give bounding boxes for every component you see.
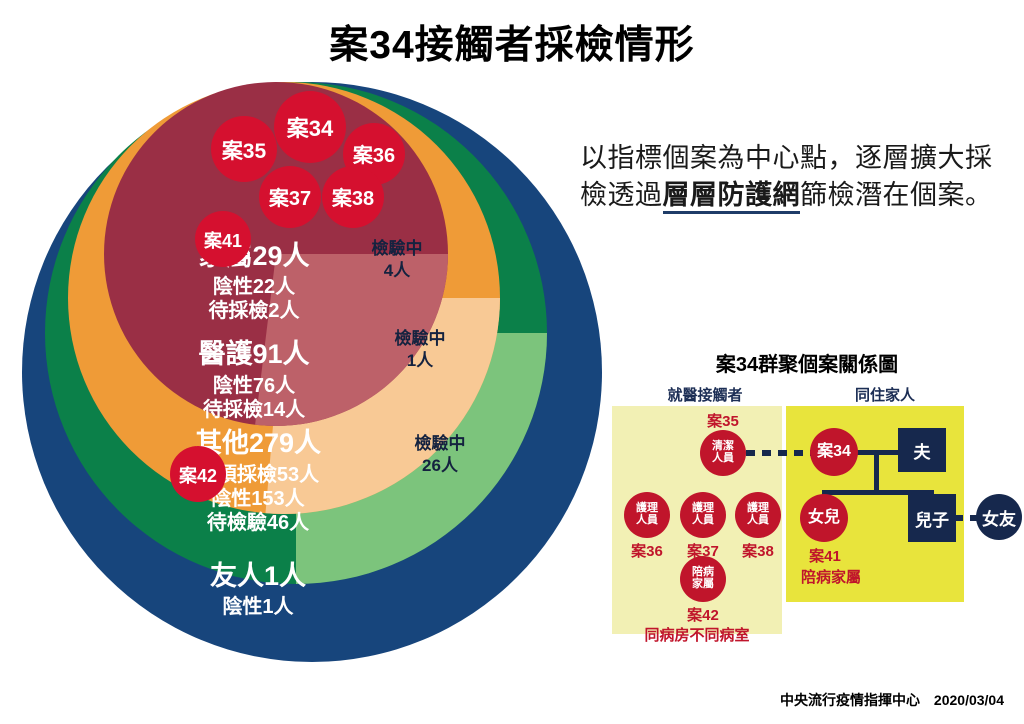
son-label: 兒子 bbox=[915, 506, 949, 531]
girlfriend-circle[interactable]: 女友 bbox=[976, 494, 1022, 540]
case38-role-circle[interactable]: 護理 人員 bbox=[735, 492, 781, 538]
case37-role-line2: 人員 bbox=[692, 515, 714, 527]
description-part-2: 篩檢潛在個案。 bbox=[800, 180, 993, 210]
case36-role-line2: 人員 bbox=[636, 515, 658, 527]
ring-friend-title: 友人1人 bbox=[210, 561, 306, 591]
column-header-household: 同住家人 bbox=[800, 384, 970, 405]
case-bubble-35[interactable]: 案35 bbox=[211, 116, 277, 182]
case34-circle[interactable]: 案34 bbox=[810, 428, 858, 476]
case38-label: 案38 bbox=[727, 540, 789, 561]
connector-case35-case34 bbox=[746, 450, 816, 456]
case42-label: 案42 bbox=[672, 604, 734, 625]
case-bubble-41-label: 案41 bbox=[203, 230, 242, 251]
column-header-clinic-contacts: 就醫接觸者 bbox=[620, 384, 790, 405]
case36-role-circle[interactable]: 護理 人員 bbox=[624, 492, 670, 538]
case35-role-line2: 人員 bbox=[712, 453, 734, 465]
footer-date: 2020/03/04 bbox=[934, 692, 1004, 708]
line-parent-vertical bbox=[874, 450, 879, 495]
case-bubble-38-label: 案38 bbox=[331, 186, 374, 210]
ring-other-pending-count: 26人 bbox=[422, 456, 459, 475]
daughter-circle[interactable]: 女兒 bbox=[800, 494, 848, 542]
daughter-label: 女兒 bbox=[808, 510, 840, 527]
case-bubble-37-label: 案37 bbox=[268, 186, 311, 210]
ring-medical-detail-1: 陰性76人 bbox=[213, 373, 296, 397]
case-bubble-36-label: 案36 bbox=[352, 143, 395, 167]
page-title: 案34接觸者採檢情形 bbox=[0, 14, 1024, 70]
description-highlight: 層層防護網 bbox=[663, 180, 801, 214]
husband-label: 夫 bbox=[914, 438, 931, 463]
case35-role-circle[interactable]: 清潔 人員 bbox=[700, 430, 746, 476]
ring-medical-pending-count: 1人 bbox=[407, 351, 434, 370]
ring-medical-pending-label: 檢驗中 bbox=[395, 328, 446, 348]
case-bubble-37[interactable]: 案37 bbox=[259, 166, 321, 228]
nested-circles-diagram: 家屬29人 陰性22人 待採檢2人 檢驗中 4人 醫護91人 陰性76人 待採檢… bbox=[8, 72, 616, 672]
case34-label: 案34 bbox=[817, 444, 851, 461]
case-bubble-34-label: 案34 bbox=[286, 116, 334, 141]
ring-other-detail-2: 陰性153人 bbox=[211, 486, 305, 510]
case41-label: 案41 bbox=[794, 545, 856, 566]
case42-note: 同病房不同病室 bbox=[612, 624, 782, 645]
girlfriend-label: 女友 bbox=[982, 505, 1016, 530]
ring-family-pending-count: 4人 bbox=[384, 261, 411, 280]
case-bubble-35-label: 案35 bbox=[221, 139, 267, 163]
case-bubble-42[interactable]: 案42 bbox=[170, 446, 226, 502]
case41-note: 陪病家屬 bbox=[786, 566, 876, 587]
ring-family-detail-1: 陰性22人 bbox=[213, 274, 296, 298]
case42-role-circle[interactable]: 陪病 家屬 bbox=[680, 556, 726, 602]
relationship-title: 案34群聚個案關係圖 bbox=[612, 348, 1002, 377]
footer: 中央流行疫情指揮中心 2020/03/04 bbox=[770, 690, 1004, 710]
ring-medical-detail-2: 待採檢14人 bbox=[203, 397, 306, 421]
ring-family-pending-label: 檢驗中 bbox=[372, 238, 423, 258]
case37-role-circle[interactable]: 護理 人員 bbox=[680, 492, 726, 538]
ring-other-detail-3: 待檢驗46人 bbox=[207, 510, 310, 534]
case-bubble-41[interactable]: 案41 bbox=[195, 211, 251, 267]
son-box[interactable]: 兒子 bbox=[908, 494, 956, 542]
venn-svg: 家屬29人 陰性22人 待採檢2人 檢驗中 4人 醫護91人 陰性76人 待採檢… bbox=[8, 72, 616, 672]
case38-role-line2: 人員 bbox=[747, 515, 769, 527]
case35-label: 案35 bbox=[692, 410, 754, 431]
ring-medical-title: 醫護91人 bbox=[198, 338, 309, 369]
case36-label: 案36 bbox=[616, 540, 678, 561]
husband-box[interactable]: 夫 bbox=[898, 428, 946, 472]
ring-family-detail-2: 待採檢2人 bbox=[208, 298, 300, 322]
case-bubble-38[interactable]: 案38 bbox=[322, 166, 384, 228]
ring-friend-detail-1: 陰性1人 bbox=[222, 594, 294, 618]
ring-other-pending-label: 檢驗中 bbox=[415, 433, 466, 453]
footer-org: 中央流行疫情指揮中心 bbox=[780, 692, 920, 708]
case-bubble-34[interactable]: 案34 bbox=[274, 91, 346, 163]
case42-role-line2: 家屬 bbox=[692, 579, 714, 591]
case-bubble-42-label: 案42 bbox=[178, 465, 217, 486]
description-text: 以指標個案為中心點，逐層擴大採檢透過層層防護網篩檢潛在個案。 bbox=[580, 140, 1000, 215]
